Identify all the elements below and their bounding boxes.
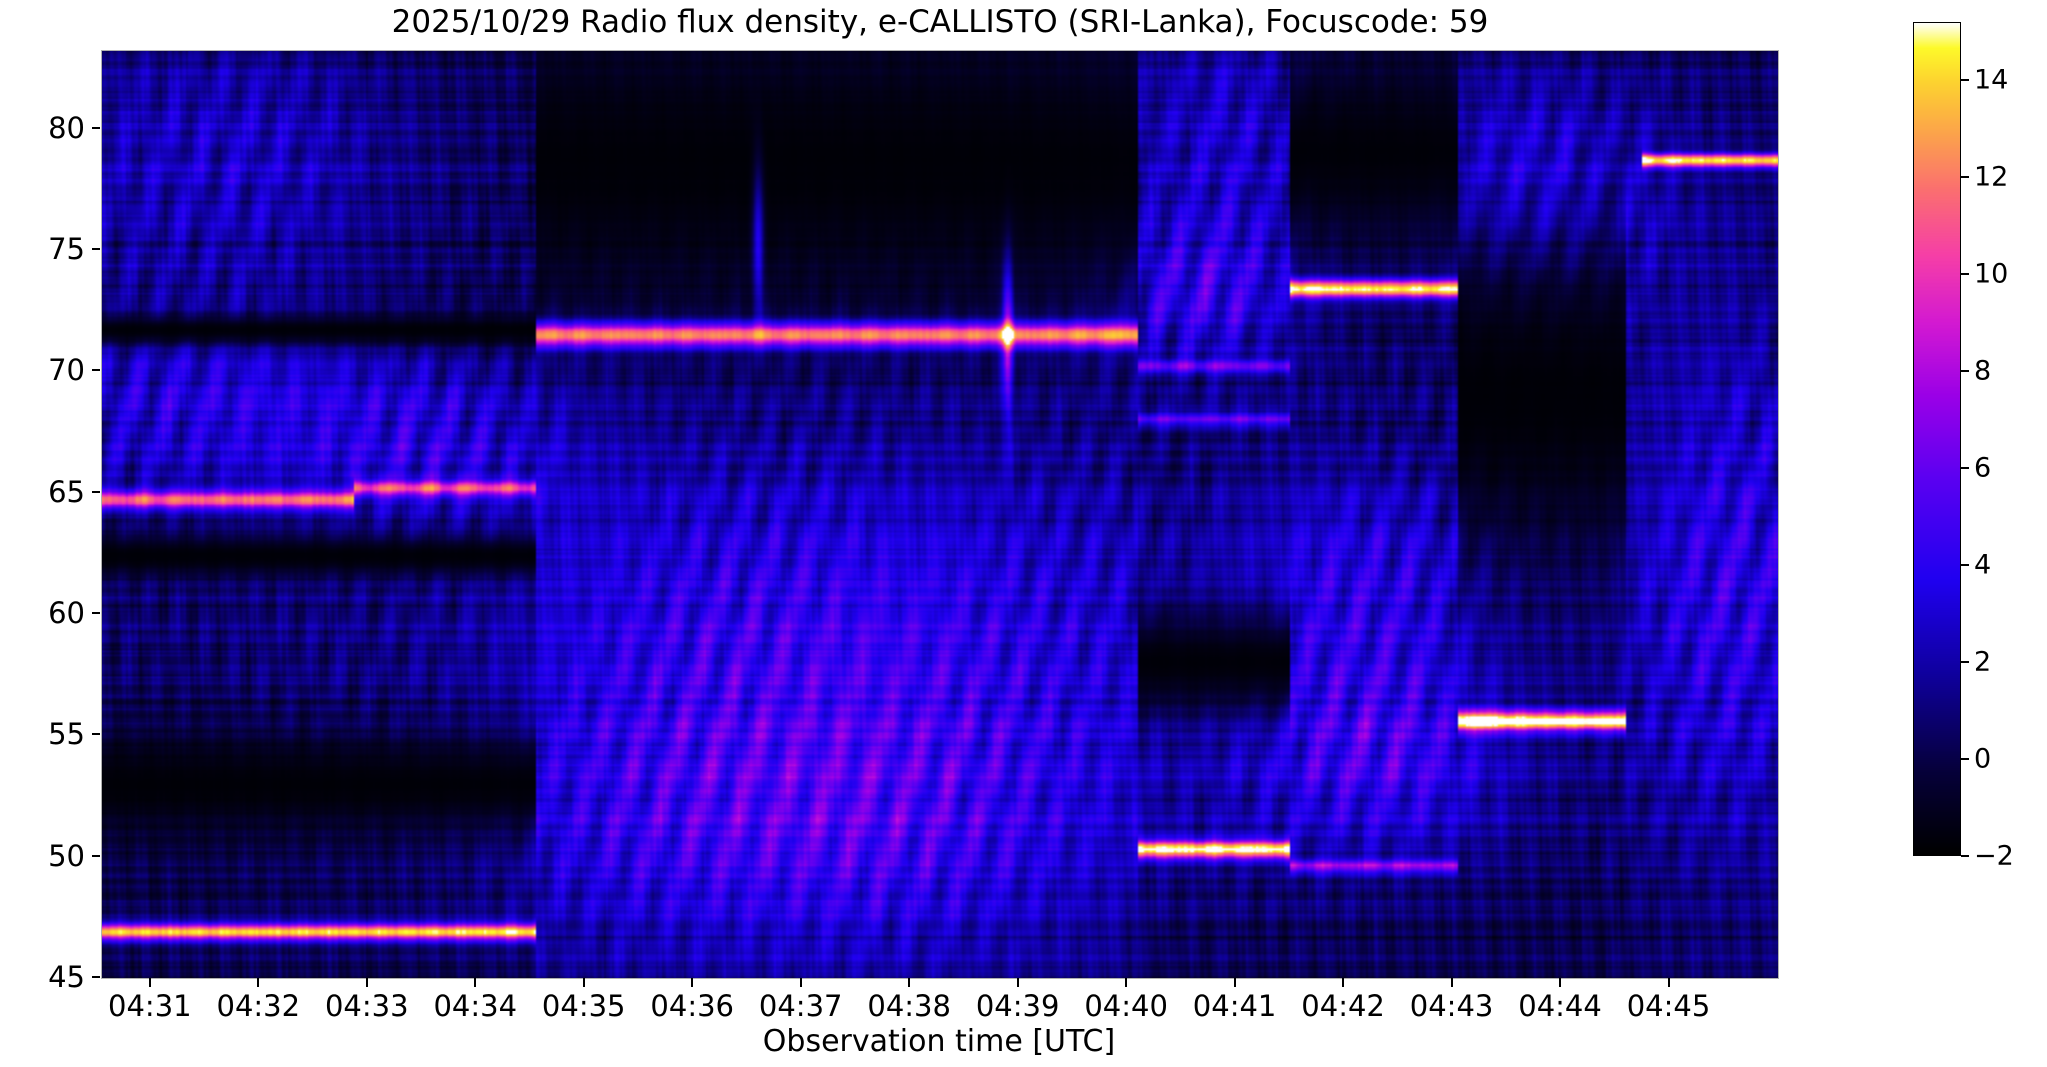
x-tick-label: 04:41 [1193, 989, 1277, 1023]
colorbar-tick-mark [1961, 758, 1969, 760]
x-tick-label: 04:36 [650, 989, 734, 1023]
y-tick-mark [92, 369, 100, 371]
x-tick-mark [1451, 978, 1453, 987]
colorbar-tick-label: 6 [1974, 453, 1991, 484]
x-tick-label: 04:40 [1084, 989, 1168, 1023]
x-tick-mark [1668, 978, 1670, 987]
colorbar-tick-mark [1961, 273, 1969, 275]
colorbar-wrapper[interactable] [1913, 22, 1961, 856]
x-tick-mark [366, 978, 368, 987]
colorbar-tick-mark [1961, 370, 1969, 372]
x-tick-mark [1342, 978, 1344, 987]
y-tick-mark [92, 491, 100, 493]
colorbar-tick-mark [1961, 176, 1969, 178]
x-tick-mark [908, 978, 910, 987]
x-tick-mark [474, 978, 476, 987]
x-tick-label: 04:39 [976, 989, 1060, 1023]
y-tick-mark [92, 855, 100, 857]
x-tick-mark [691, 978, 693, 987]
x-tick-mark [1017, 978, 1019, 987]
x-tick-mark [583, 978, 585, 987]
x-tick-label: 04:31 [108, 989, 192, 1023]
x-tick-label: 04:37 [759, 989, 843, 1023]
y-tick-mark [92, 248, 100, 250]
x-axis-label: Observation time [UTC] [101, 1024, 1777, 1059]
colorbar-tick-mark [1961, 79, 1969, 81]
spectrogram-axes[interactable] [101, 50, 1779, 979]
x-tick-mark [257, 978, 259, 987]
x-tick-mark [1559, 978, 1561, 987]
figure-root: 2025/10/29 Radio flux density, e-CALLIST… [0, 0, 2047, 1067]
x-tick-label: 04:32 [216, 989, 300, 1023]
y-tick-label: 75 [0, 232, 85, 266]
y-tick-label: 45 [0, 960, 85, 994]
colorbar-tick-label: 4 [1974, 550, 1991, 581]
x-tick-label: 04:35 [542, 989, 626, 1023]
y-tick-mark [92, 127, 100, 129]
y-tick-label: 80 [0, 111, 85, 145]
figure-title: 2025/10/29 Radio flux density, e-CALLIST… [0, 4, 1880, 40]
colorbar-tick-label: 0 [1974, 744, 1991, 775]
colorbar-label: dB above background [1993, 22, 2047, 856]
x-tick-mark [1125, 978, 1127, 987]
y-tick-mark [92, 976, 100, 978]
y-tick-label: 50 [0, 839, 85, 873]
y-tick-label: 65 [0, 475, 85, 509]
y-tick-mark [92, 733, 100, 735]
y-tick-label: 60 [0, 596, 85, 630]
x-tick-label: 04:42 [1301, 989, 1385, 1023]
y-tick-label: 70 [0, 353, 85, 387]
y-tick-label: 55 [0, 717, 85, 751]
colorbar-tick-mark [1961, 564, 1969, 566]
x-tick-label: 04:34 [433, 989, 517, 1023]
x-tick-label: 04:43 [1410, 989, 1494, 1023]
x-tick-mark [149, 978, 151, 987]
colorbar-tick-label: 8 [1974, 356, 1991, 387]
x-tick-label: 04:44 [1518, 989, 1602, 1023]
colorbar-tick-mark [1961, 467, 1969, 469]
colorbar-canvas[interactable] [1913, 22, 1961, 856]
x-tick-label: 04:45 [1627, 989, 1711, 1023]
colorbar-tick-mark [1961, 661, 1969, 663]
colorbar-tick-mark [1961, 855, 1969, 857]
x-tick-label: 04:33 [325, 989, 409, 1023]
spectrogram-canvas[interactable] [102, 51, 1778, 978]
x-tick-mark [800, 978, 802, 987]
colorbar-tick-label: 2 [1974, 647, 1991, 678]
x-tick-label: 04:38 [867, 989, 951, 1023]
x-tick-mark [1234, 978, 1236, 987]
y-tick-mark [92, 612, 100, 614]
